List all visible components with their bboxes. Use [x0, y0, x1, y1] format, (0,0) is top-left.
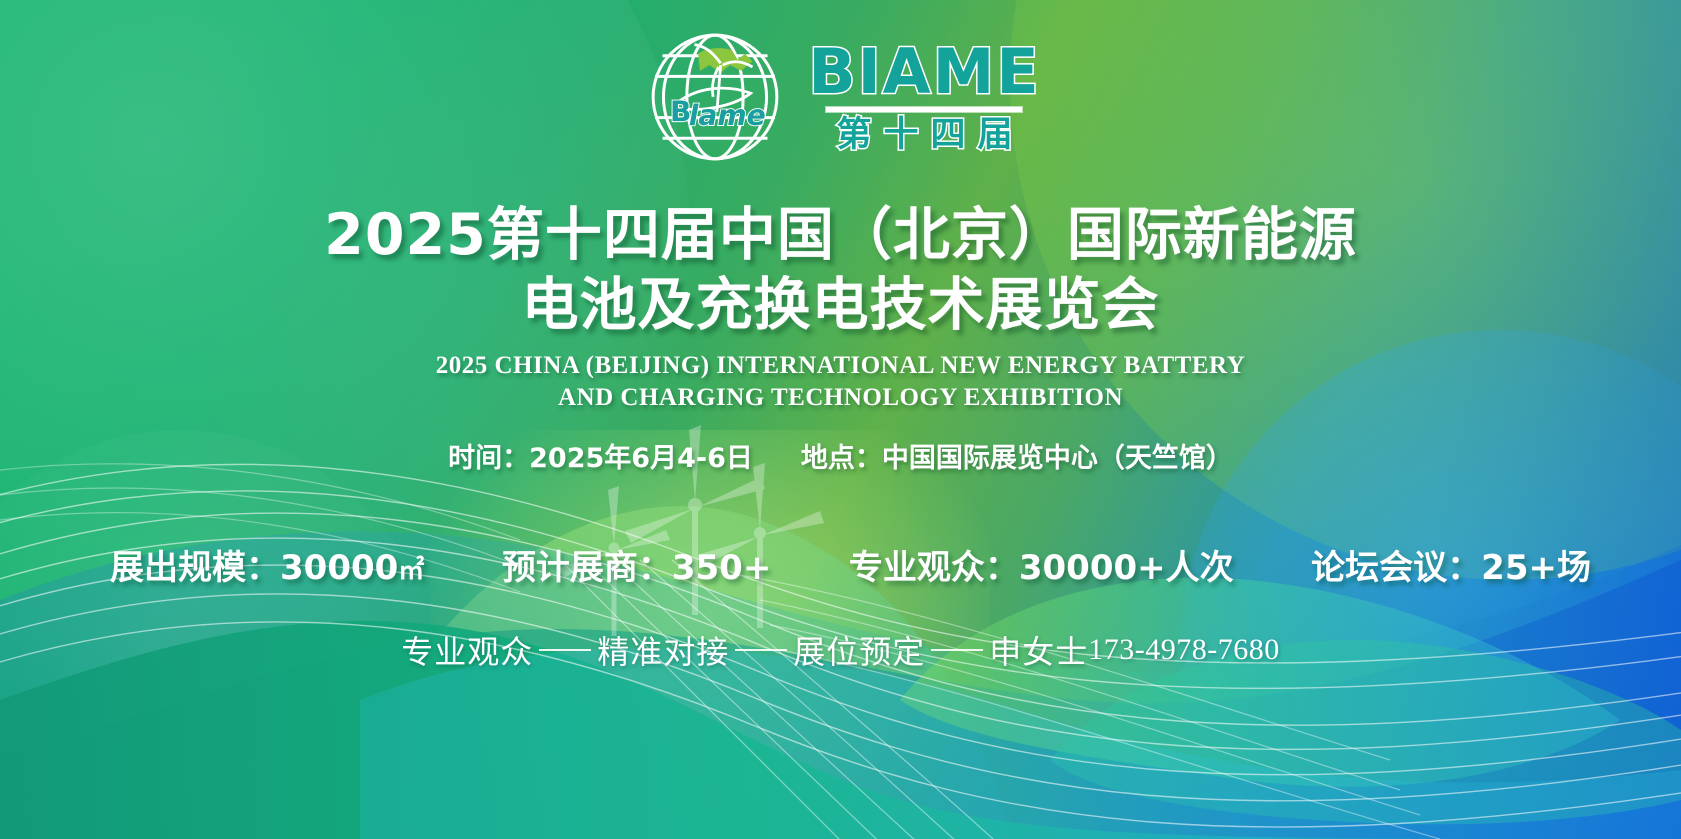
contact-divider-2: [735, 649, 787, 651]
contact-divider-3: [931, 649, 983, 651]
event-date-label: 时间：: [448, 443, 529, 474]
stat-expected-exhibitors: 预计展商：350+: [502, 540, 771, 589]
stat-value: 25+场: [1481, 548, 1591, 588]
event-date-value: 2025年6月4-6日: [529, 443, 753, 474]
stat-label: 预计展商：: [502, 548, 672, 588]
title-chinese-line2: 电池及充换电技术展览会: [0, 275, 1681, 337]
title-chinese-line1: 2025第十四届中国（北京）国际新能源: [0, 205, 1681, 267]
stat-value: 30000+人次: [1019, 548, 1234, 588]
contact-item-matching: 精准对接: [597, 627, 729, 673]
stat-unit: ㎡: [398, 556, 424, 586]
event-venue-value: 中国国际展览中心（天竺馆）: [882, 443, 1233, 474]
contact-item-booth: 展位预定: [793, 627, 925, 673]
logo-brand-text: BIAME: [808, 41, 1040, 103]
title-english: 2025 CHINA (BEIJING) INTERNATIONAL NEW E…: [0, 350, 1681, 414]
stat-professional-visitors: 专业观众：30000+人次: [849, 540, 1234, 589]
stats-row: 展出规模：30000㎡ 预计展商：350+ 专业观众：30000+人次 论坛会议…: [110, 540, 1591, 589]
logo-edition-text: 第十四届: [824, 118, 1024, 153]
stat-exhibition-area: 展出规模：30000㎡: [110, 540, 424, 589]
contact-divider-1: [539, 649, 591, 651]
stat-label: 展出规模：: [110, 548, 280, 588]
title-english-line1: 2025 CHINA (BEIJING) INTERNATIONAL NEW E…: [0, 350, 1681, 382]
logo: B lame BIAME 第十四届: [0, 22, 1681, 172]
contact-person: 申女士: [989, 627, 1088, 673]
event-date: 时间：2025年6月4-6日: [448, 436, 753, 475]
stat-value: 30000: [280, 548, 398, 588]
event-meta-row: 时间：2025年6月4-6日 地点：中国国际展览中心（天竺馆）: [0, 436, 1681, 475]
event-venue: 地点：中国国际展览中心（天竺馆）: [801, 436, 1233, 475]
contact-item-visitors: 专业观众: [401, 627, 533, 673]
logo-divider: [826, 107, 1022, 112]
stat-value: 350+: [672, 548, 771, 588]
title-block: 2025第十四届中国（北京）国际新能源 电池及充换电技术展览会 2025 CHI…: [0, 205, 1681, 475]
stat-label: 论坛会议：: [1311, 548, 1481, 588]
event-venue-label: 地点：: [801, 443, 882, 474]
contact-row: 专业观众 精准对接 展位预定 申女士 173-4978-7680: [0, 627, 1681, 673]
globe-wind-turbine-icon: B lame: [640, 22, 790, 172]
stat-forum-sessions: 论坛会议：25+场: [1311, 540, 1591, 589]
logo-text: BIAME 第十四届: [808, 41, 1040, 153]
stat-label: 专业观众：: [849, 548, 1019, 588]
contact-phone[interactable]: 173-4978-7680: [1088, 633, 1279, 667]
title-english-line2: AND CHARGING TECHNOLOGY EXHIBITION: [0, 382, 1681, 414]
exhibition-banner: B lame BIAME 第十四届 2025第十四届中国（北京）国际新能源 电池…: [0, 0, 1681, 839]
svg-text:lame: lame: [689, 99, 766, 132]
